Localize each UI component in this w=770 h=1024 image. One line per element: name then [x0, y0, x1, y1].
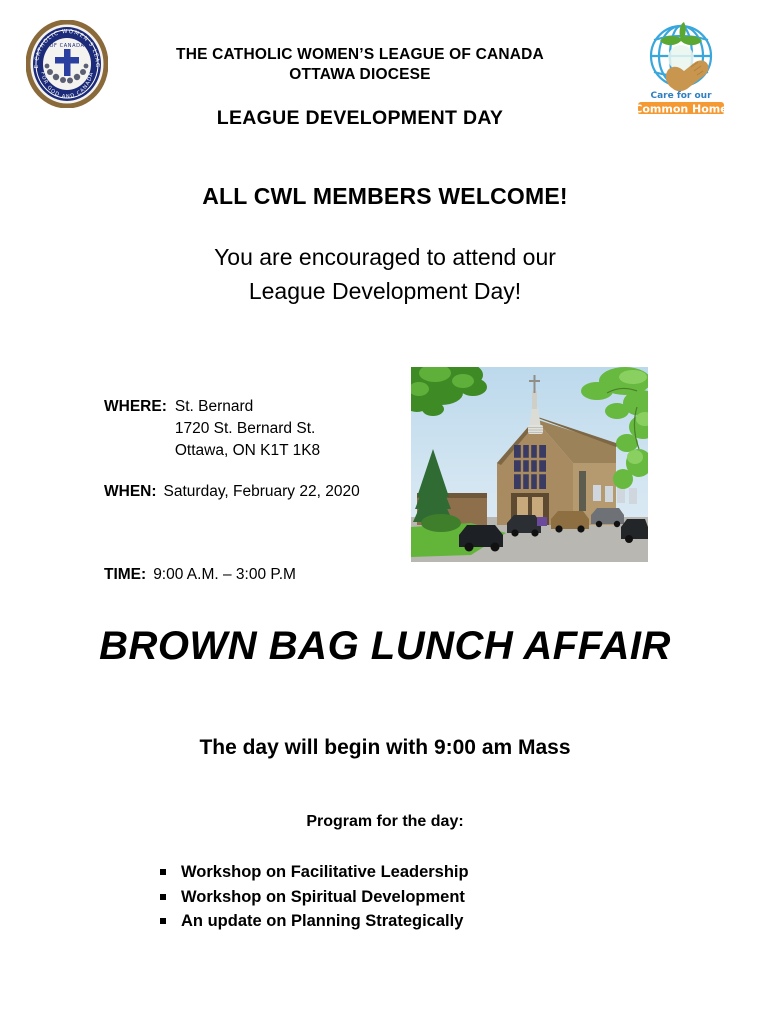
- program-item-label: Workshop on Spiritual Development: [181, 888, 465, 906]
- where-label: WHERE:: [104, 398, 167, 415]
- cwl-crest-icon: THE CATHOLIC WOMEN'S LEAGUE FOR GOD AND …: [26, 20, 108, 108]
- list-item: An update on Planning Strategically: [160, 909, 469, 934]
- event-title: LEAGUE DEVELOPMENT DAY: [120, 107, 600, 130]
- welcome-headline: ALL CWL MEMBERS WELCOME!: [110, 183, 660, 210]
- where-detail: WHERE: St. Bernard 1720 St. Bernard St. …: [104, 396, 320, 462]
- organization-title: THE CATHOLIC WOMEN’S LEAGUE OF CANADA OT…: [120, 45, 600, 85]
- program-heading: Program for the day:: [60, 813, 710, 831]
- when-value: Saturday, February 22, 2020: [164, 483, 360, 500]
- brown-bag-headline: BROWN BAG LUNCH AFFAIR: [40, 624, 730, 669]
- care-caption-top: Care for our: [650, 91, 712, 101]
- program-item-label: An update on Planning Strategically: [181, 912, 463, 930]
- when-detail: WHEN:Saturday, February 22, 2020: [104, 481, 360, 503]
- where-city: Ottawa, ON K1T 1K8: [175, 442, 320, 459]
- organization-title-line1: THE CATHOLIC WOMEN’S LEAGUE OF CANADA: [120, 45, 600, 65]
- organization-title-line2: OTTAWA DIOCESE: [120, 65, 600, 85]
- flyer-page: THE CATHOLIC WOMEN'S LEAGUE FOR GOD AND …: [0, 0, 770, 1024]
- cwl-crest-logo: THE CATHOLIC WOMEN'S LEAGUE FOR GOD AND …: [26, 20, 108, 108]
- church-photo-image: [411, 367, 648, 562]
- square-bullet-icon: [160, 894, 166, 900]
- mass-start-line: The day will begin with 9:00 am Mass: [60, 736, 710, 760]
- list-item: Workshop on Spiritual Development: [160, 885, 469, 910]
- where-venue: St. Bernard: [175, 398, 253, 415]
- st-bernard-church-photo: [411, 367, 648, 562]
- square-bullet-icon: [160, 918, 166, 924]
- list-item: Workshop on Facilitative Leadership: [160, 860, 469, 885]
- time-value: 9:00 A.M. – 3:00 P.M: [153, 566, 296, 583]
- invitation-text: You are encouraged to attend our League …: [110, 240, 660, 308]
- care-common-home-icon: Care for our Common Home: [632, 14, 730, 114]
- invitation-line1: You are encouraged to attend our: [110, 240, 660, 274]
- where-street: 1720 St. Bernard St.: [175, 420, 315, 437]
- program-item-label: Workshop on Facilitative Leadership: [181, 863, 469, 881]
- time-detail: TIME:9:00 A.M. – 3:00 P.M: [104, 564, 296, 586]
- invitation-line2: League Development Day!: [110, 274, 660, 308]
- care-caption-banner: Common Home: [634, 103, 727, 115]
- when-label: WHEN:: [104, 483, 157, 500]
- square-bullet-icon: [160, 869, 166, 875]
- care-for-our-common-home-logo: Care for our Common Home: [632, 14, 730, 114]
- time-label: TIME:: [104, 566, 146, 583]
- program-item-list: Workshop on Facilitative Leadership Work…: [160, 860, 469, 934]
- svg-text:OF CANADA: OF CANADA: [49, 43, 84, 49]
